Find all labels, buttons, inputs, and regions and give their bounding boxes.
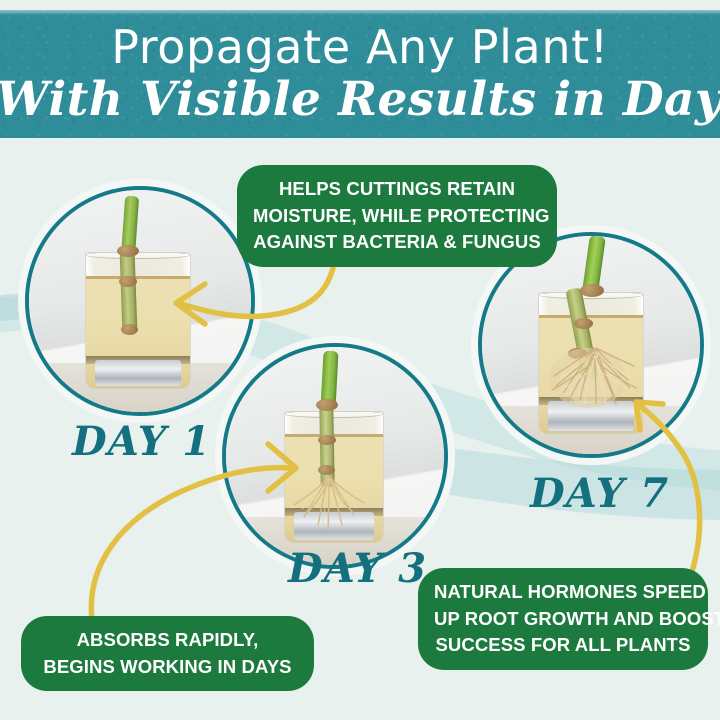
callout-moisture-line-3: AGAINST BACTERIA & FUNGUS	[253, 229, 541, 256]
callout-moisture: HELPS CUTTINGS RETAIN MOISTURE, WHILE PR…	[237, 165, 557, 267]
photo-bubble-day-1	[25, 186, 255, 416]
roots-day-3	[282, 475, 382, 537]
callout-hormones-line-1: NATURAL HORMONES SPEED	[434, 579, 692, 606]
callout-moisture-line-2: MOISTURE, WHILE PROTECTING	[253, 203, 541, 230]
page-title-line2: With Visible Results in Days	[0, 72, 720, 128]
day-label-3: DAY 3	[288, 545, 427, 592]
callout-moisture-line-1: HELPS CUTTINGS RETAIN	[253, 176, 541, 203]
photo-bubble-day-3	[222, 343, 448, 569]
photo-day-3	[226, 347, 444, 565]
day-label-1: DAY 1	[72, 418, 211, 465]
callout-absorbs: ABSORBS RAPIDLY, BEGINS WORKING IN DAYS	[21, 616, 314, 691]
photo-day-1	[29, 190, 251, 412]
roots-day-7	[536, 336, 644, 420]
header-top-edge	[0, 10, 720, 15]
header-band: Propagate Any Plant! With Visible Result…	[0, 10, 720, 138]
callout-absorbs-line-2: BEGINS WORKING IN DAYS	[37, 654, 298, 681]
infographic-canvas: Propagate Any Plant! With Visible Result…	[0, 0, 720, 720]
callout-hormones-line-2: UP ROOT GROWTH AND BOOST	[434, 606, 692, 633]
day-label-7: DAY 7	[530, 470, 669, 517]
callout-hormones-line-3: SUCCESS FOR ALL PLANTS	[434, 632, 692, 659]
glass-day-1	[85, 252, 191, 389]
page-title-line1: Propagate Any Plant!	[0, 22, 720, 72]
photo-day-7	[482, 236, 700, 454]
callout-absorbs-line-1: ABSORBS RAPIDLY,	[37, 627, 298, 654]
callout-hormones: NATURAL HORMONES SPEED UP ROOT GROWTH AN…	[418, 568, 708, 670]
